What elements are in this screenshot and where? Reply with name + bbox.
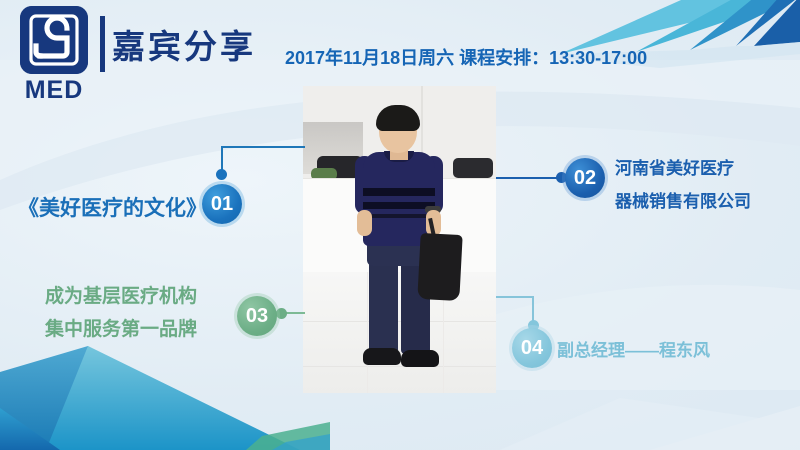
- page-title: 嘉宾分享: [112, 20, 256, 68]
- callout-02-line-2: 器械销售有限公司: [615, 185, 751, 218]
- callout-badge-01[interactable]: 01: [202, 184, 242, 224]
- callout-text-04: 副总经理——程东风: [557, 336, 710, 361]
- callout-text-03: 成为基层医疗机构 集中服务第一品牌: [45, 280, 197, 346]
- slide-canvas: MED 嘉宾分享 2017年11月18日周六 课程安排：13:30-17:00: [0, 0, 800, 450]
- logo-wordmark: MED: [12, 76, 96, 104]
- callout-03-line-2: 集中服务第一品牌: [45, 313, 197, 346]
- logo-glyph-icon: [20, 6, 88, 74]
- corner-mountain-decoration: [0, 330, 330, 450]
- smed-logo-icon: [20, 6, 88, 74]
- callout-04-line-1: 副总经理——程东风: [557, 336, 710, 361]
- callout-01-line-1: 《美好医疗的文化》: [18, 192, 207, 222]
- title-accent-bar: [100, 16, 105, 72]
- callout-badge-03[interactable]: 03: [237, 296, 277, 336]
- callout-text-01: 《美好医疗的文化》: [18, 192, 207, 222]
- callout-02-line-1: 河南省美好医疗: [615, 152, 751, 185]
- session-schedule-text: 2017年11月18日周六 课程安排：13:30-17:00: [285, 44, 647, 70]
- speaker-photo: [303, 86, 496, 393]
- callout-03-line-1: 成为基层医疗机构: [45, 280, 197, 313]
- callout-badge-02[interactable]: 02: [565, 158, 605, 198]
- slide-header: MED 嘉宾分享 2017年11月18日周六 课程安排：13:30-17:00: [0, 0, 800, 92]
- callout-text-02: 河南省美好医疗 器械销售有限公司: [615, 152, 751, 218]
- brand-logo: MED: [12, 6, 96, 106]
- callout-badge-04[interactable]: 04: [512, 328, 552, 368]
